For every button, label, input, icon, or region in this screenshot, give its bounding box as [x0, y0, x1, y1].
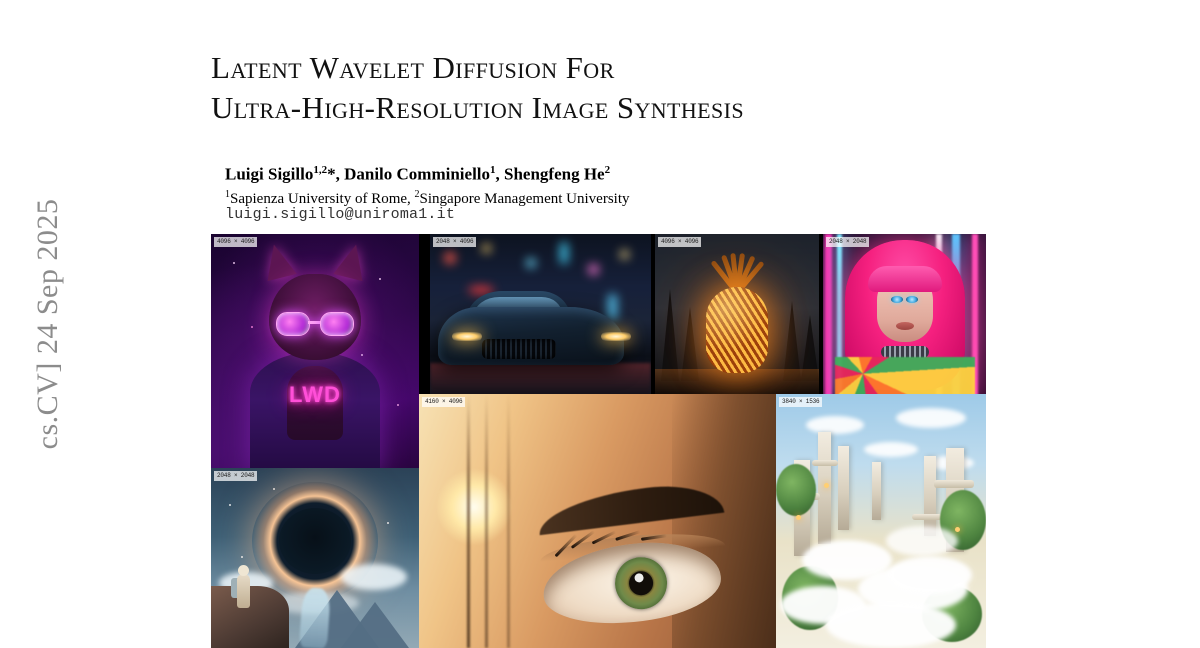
river: [299, 587, 331, 648]
author-3-affiliation-marker: 2: [605, 164, 611, 176]
figure-tile-cloud-city: 3840 × 1536: [776, 394, 986, 648]
author-1-footnote-marker: *: [327, 165, 336, 184]
figure-tile-glowing-pineapple: 4096 × 4096: [655, 234, 819, 399]
figure-tile-astronaut-black-hole: 2048 × 2048: [211, 468, 419, 648]
foreground-rock: [211, 586, 289, 648]
tower-3: [838, 446, 849, 530]
cat-ear-right: [333, 241, 370, 281]
affiliation-2: Singapore Management University: [420, 191, 630, 207]
teaser-figure: LWD 4096 × 4096 2048 × 4096: [211, 234, 986, 648]
tower-6: [872, 462, 881, 520]
tower-cap-2: [812, 460, 838, 466]
girl-floral-jacket: [835, 357, 975, 399]
resolution-badge: 4096 × 4096: [658, 237, 701, 247]
girl-bangs: [868, 266, 942, 292]
contact-email[interactable]: luigi.sigillo@uniroma1.it: [225, 206, 455, 223]
resolution-badge: 2048 × 4096: [433, 237, 476, 247]
astronaut-helmet: [238, 565, 249, 576]
black-hole-core: [279, 508, 351, 574]
resolution-badge: 2048 × 2048: [214, 471, 257, 481]
car-grille: [482, 339, 556, 359]
figure-tile-night-city-car: 2048 × 4096: [430, 234, 651, 399]
resolution-badge: 4096 × 4096: [214, 237, 257, 247]
figure-tile-neon-pink-hair-girl: 2048 × 2048: [823, 234, 986, 399]
arxiv-stamp: cs.CV] 24 Sep 2025: [31, 199, 65, 450]
author-1-affiliation-marker: 1,2: [313, 164, 327, 176]
girl-eye-left: [891, 296, 903, 303]
author-list: Luigi Sigillo1,2*, Danilo Comminiello1, …: [225, 160, 965, 185]
figure-tile-neon-cat: LWD 4096 × 4096: [211, 234, 419, 468]
neon-logo-text: LWD: [289, 382, 341, 408]
author-separator-2: ,: [496, 165, 505, 184]
affiliation-1: Sapienza University of Rome,: [230, 191, 415, 207]
hair-strands: [672, 394, 776, 648]
title-line-2: Ultra-High-Resolution Image Synthesis: [211, 88, 971, 128]
car-headlight-left: [452, 332, 482, 341]
sun-bokeh: [437, 468, 511, 546]
cat-ear-left: [259, 241, 296, 281]
resolution-badge: 4160 × 4096: [422, 397, 465, 407]
title-line-1: Latent Wavelet Diffusion For: [211, 48, 971, 88]
author-separator-1: ,: [336, 165, 345, 184]
page-title: Latent Wavelet Diffusion For Ultra-High-…: [211, 48, 971, 128]
girl-lips: [896, 322, 914, 330]
author-2-name: Danilo Comminiello: [344, 165, 490, 184]
girl-eye-right: [906, 296, 918, 303]
resolution-badge: 3840 × 1536: [779, 397, 822, 407]
author-3-name: Shengfeng He: [504, 165, 605, 184]
figure-tile-close-up-eye: 4160 × 4096: [419, 394, 776, 648]
pineapple-body: [706, 287, 768, 373]
car-headlight-right: [601, 332, 631, 341]
resolution-badge: 2048 × 2048: [826, 237, 869, 247]
tower-cap-4: [912, 514, 942, 520]
astronaut-body: [237, 574, 250, 608]
tower-5: [924, 456, 936, 536]
mountain-right: [341, 602, 409, 648]
tower-cap-3: [934, 480, 974, 488]
tower-2: [818, 432, 831, 544]
cat-glasses: [276, 312, 354, 334]
author-1-name: Luigi Sigillo: [225, 165, 313, 184]
